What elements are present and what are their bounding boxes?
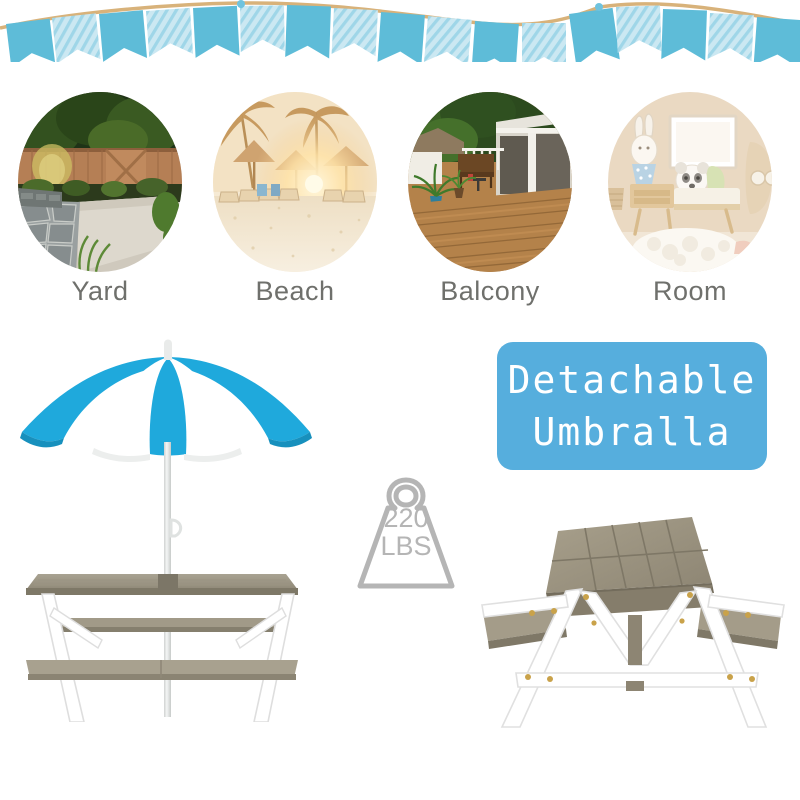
scene-room: Room bbox=[608, 92, 772, 272]
beach-illustration bbox=[213, 92, 377, 272]
scene-beach-image bbox=[213, 92, 377, 272]
yard-illustration bbox=[18, 92, 182, 272]
umbrella-table-product bbox=[0, 322, 328, 722]
scene-beach: Beach bbox=[213, 92, 377, 272]
detachable-umbrella-badge: Detachable Umbralla bbox=[497, 342, 767, 470]
pennant-banner bbox=[0, 0, 800, 62]
weight-capacity-icon: 220 LBS bbox=[352, 474, 460, 592]
scene-label-balcony: Balcony bbox=[408, 276, 572, 307]
room-illustration bbox=[608, 92, 772, 272]
scene-room-image bbox=[608, 92, 772, 272]
scene-label-room: Room bbox=[608, 276, 772, 307]
picnic-table-angled bbox=[480, 495, 800, 730]
weight-value-text: 220 LBS bbox=[352, 504, 460, 560]
infographic-page: Yard bbox=[0, 0, 800, 800]
badge-line-1: Detachable bbox=[508, 354, 757, 406]
table-left bbox=[26, 574, 298, 722]
balcony-illustration bbox=[408, 92, 572, 272]
scene-yard-image bbox=[18, 92, 182, 272]
scene-label-yard: Yard bbox=[18, 276, 182, 307]
scene-balcony-image bbox=[408, 92, 572, 272]
weight-number: 220 bbox=[352, 504, 460, 532]
scene-balcony: Balcony bbox=[408, 92, 572, 272]
weight-unit: LBS bbox=[352, 532, 460, 560]
scene-label-beach: Beach bbox=[213, 276, 377, 307]
scene-yard: Yard bbox=[18, 92, 182, 272]
badge-line-2: Umbralla bbox=[532, 406, 731, 458]
